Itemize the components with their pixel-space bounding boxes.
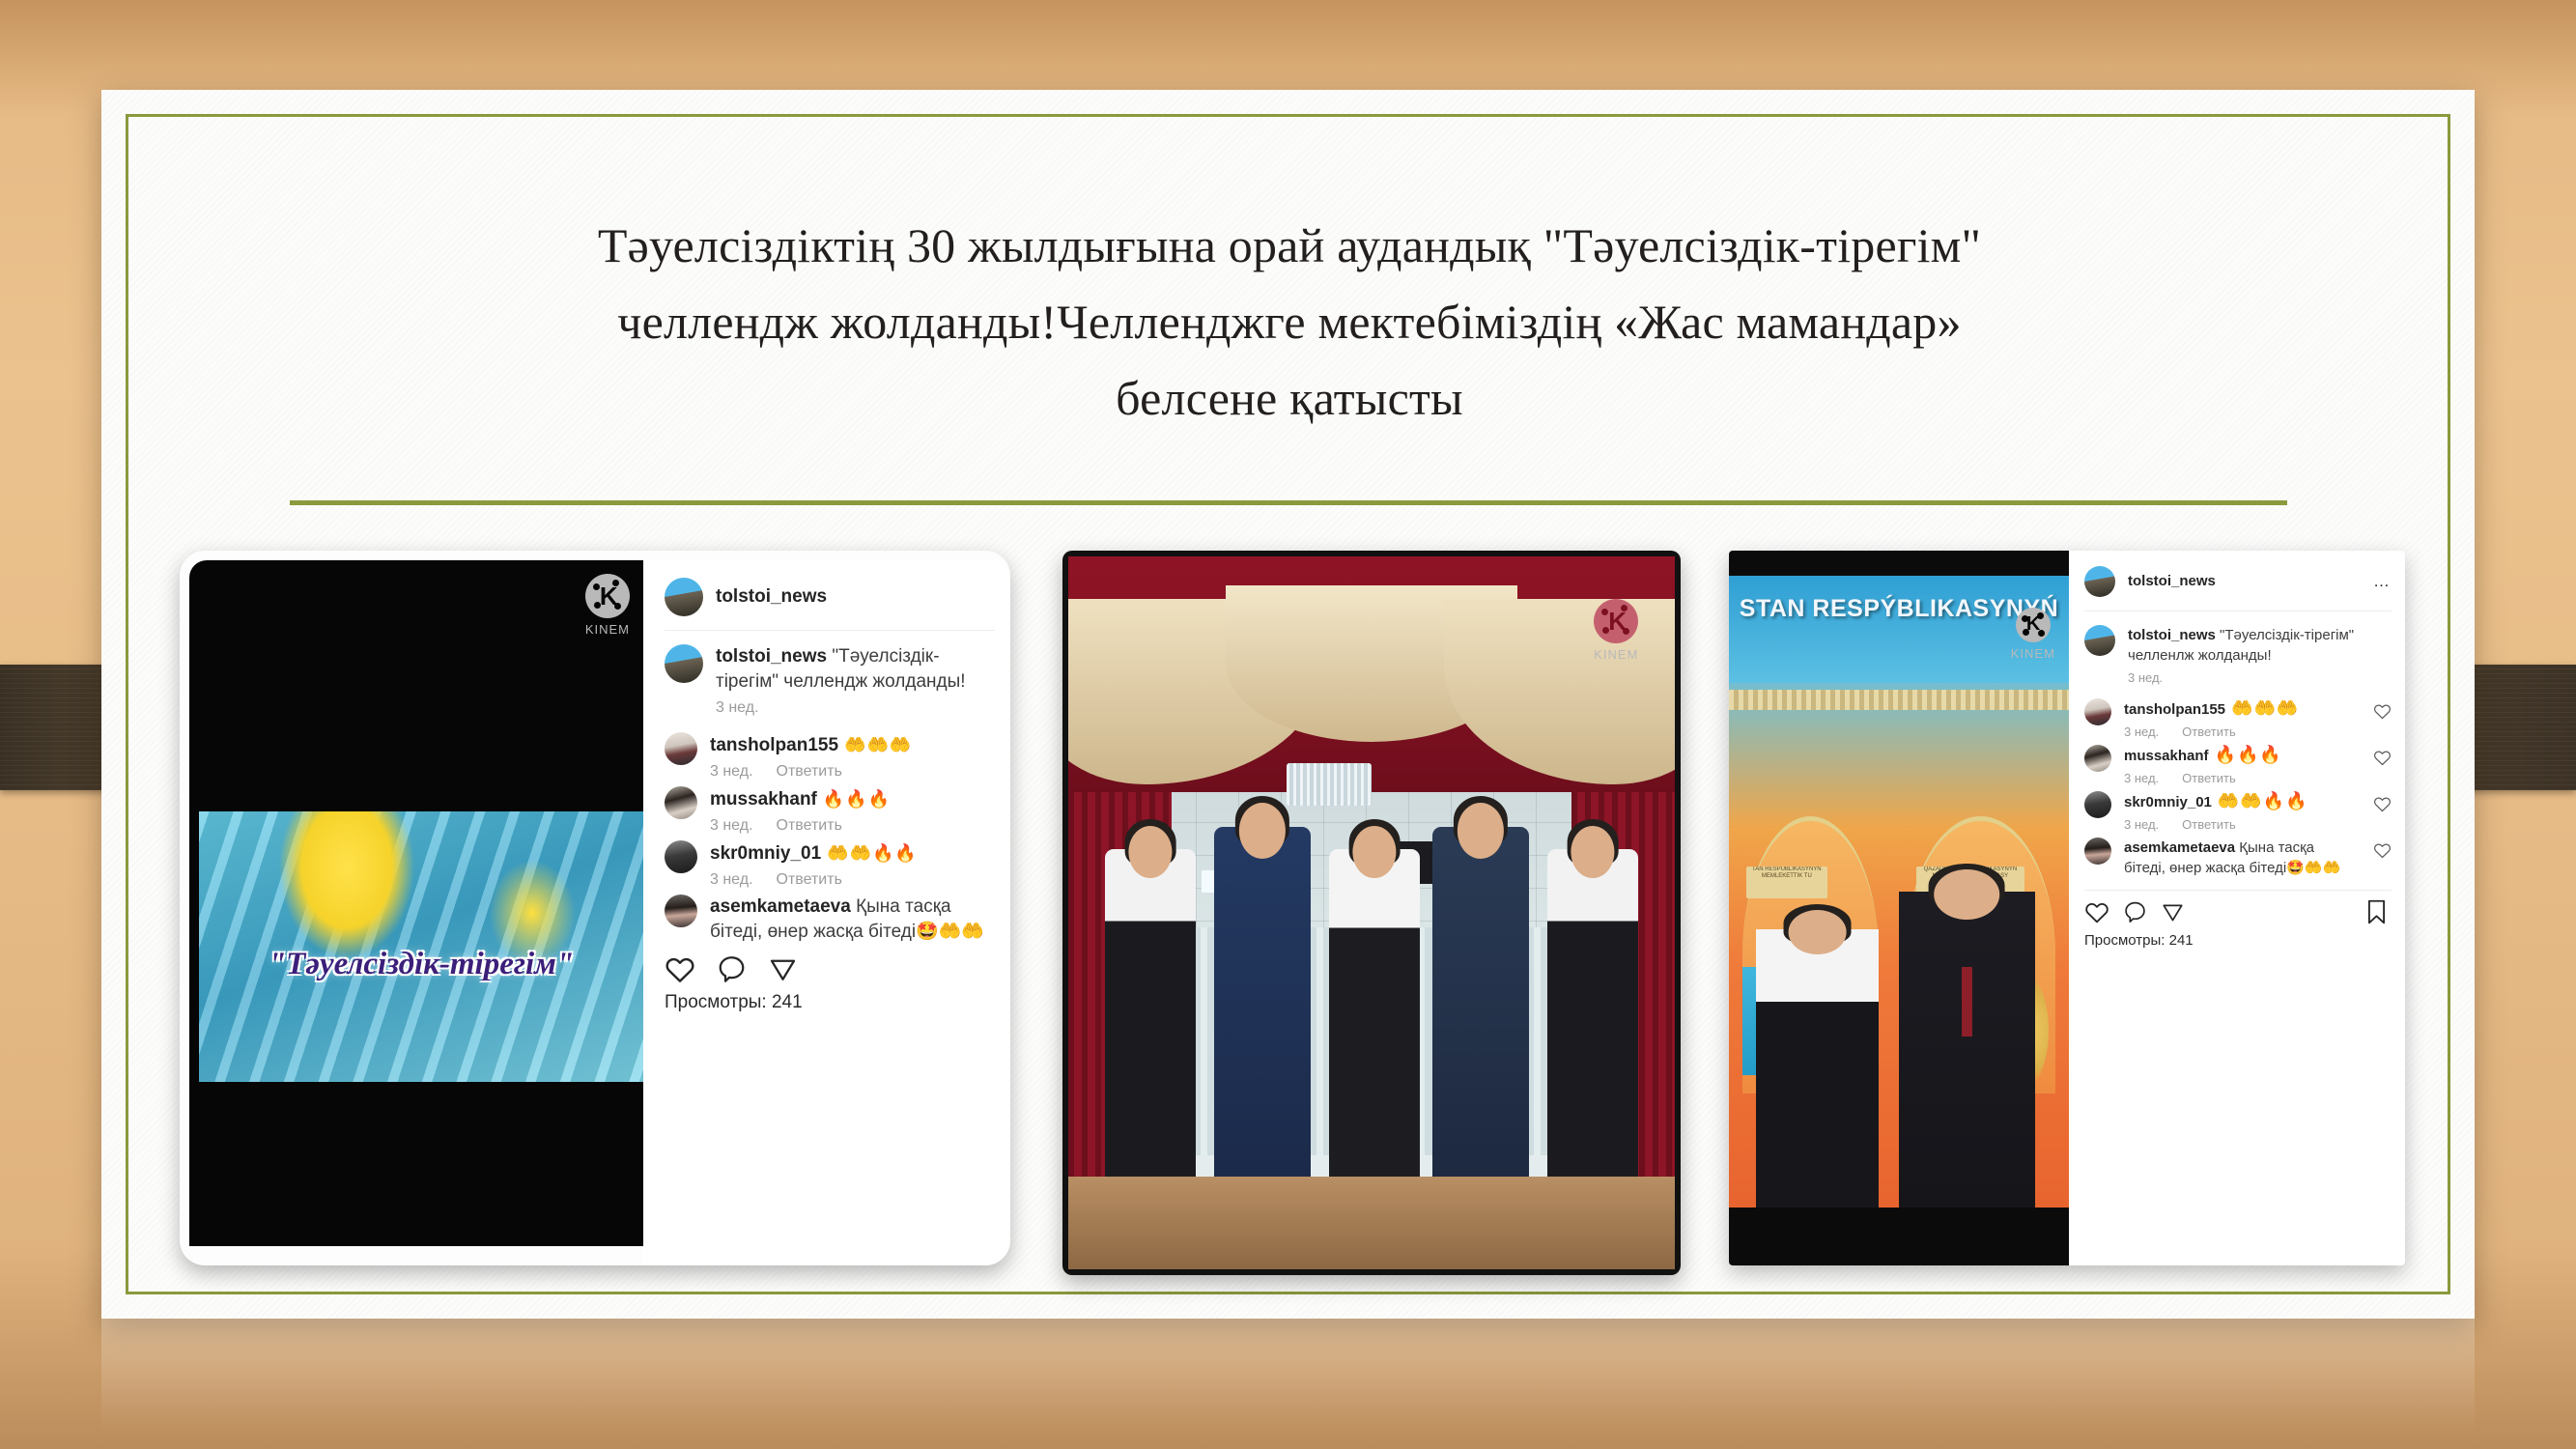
kinemaster-disc-icon: K — [585, 574, 630, 618]
poster-photo: STAN RESPÝBLIKASYNYŃ TAN RESPUBLIKASYNYŃ… — [1729, 551, 2069, 1265]
share-icon[interactable] — [768, 954, 798, 983]
comment-username[interactable]: mussakhanf — [2124, 748, 2209, 764]
like-comment-icon[interactable] — [2373, 841, 2392, 859]
comment-icon[interactable] — [717, 954, 747, 983]
heart-icon[interactable] — [665, 954, 695, 983]
avatar[interactable] — [665, 644, 703, 683]
divider — [2084, 611, 2392, 611]
person — [1432, 827, 1529, 1177]
comment-username[interactable]: mussakhanf — [710, 789, 817, 810]
kazakh-flag-frame: "Тәуелсіздік-тірегім" — [199, 811, 643, 1082]
instagram-card-right[interactable]: STAN RESPÝBLIKASYNYŃ TAN RESPUBLIKASYNYŃ… — [1729, 551, 2405, 1265]
more-options-icon[interactable]: … — [2373, 572, 2392, 591]
avatar[interactable] — [2084, 566, 2115, 597]
post-caption: tolstoi_news "Тәуелсіздік-тірегім" челле… — [665, 644, 995, 717]
comment-time: 3 нед. — [710, 763, 753, 780]
poster-ornament — [1729, 690, 2069, 710]
comment-text: 🤲🤲🤲 — [838, 735, 912, 754]
views-count: Просмотры: 241 — [665, 992, 995, 1013]
comment-username[interactable]: skr0mniy_01 — [2124, 794, 2212, 810]
avatar[interactable] — [2084, 745, 2111, 772]
list-item: mussakhanf 🔥🔥🔥 3 нед.Ответить — [665, 786, 995, 835]
reply-button[interactable]: Ответить — [2182, 817, 2236, 832]
comment-time: 3 нед. — [710, 817, 753, 834]
caption-username[interactable]: tolstoi_news — [2128, 627, 2216, 643]
instagram-comments-pane: tolstoi_news tolstoi_news "Тәуелсіздік-т… — [643, 560, 1010, 1265]
like-comment-icon[interactable] — [2373, 795, 2392, 812]
chandelier — [1287, 763, 1372, 806]
flag-sun-emblem — [274, 811, 419, 965]
like-comment-icon[interactable] — [2373, 749, 2392, 766]
person — [1899, 892, 2035, 1207]
comment-text: 🔥🔥🔥 — [817, 789, 891, 809]
person — [1547, 849, 1638, 1177]
comment-text: 🔥🔥🔥 — [2209, 745, 2282, 764]
comment-time: 3 нед. — [2124, 817, 2159, 832]
divider — [665, 630, 995, 631]
avatar[interactable] — [2084, 625, 2115, 656]
list-item: asemkametaeva Қына тасқа бітеді, өнер жа… — [665, 895, 995, 945]
instagram-comments-pane: tolstoi_news … tolstoi_news "Тәуелсіздік… — [2069, 551, 2405, 1265]
avatar[interactable] — [2084, 791, 2111, 818]
reply-button[interactable]: Ответить — [777, 871, 842, 888]
reply-button[interactable]: Ответить — [777, 763, 842, 780]
heart-icon[interactable] — [2084, 900, 2109, 923]
avatar[interactable] — [665, 732, 697, 765]
like-comment-icon[interactable] — [2373, 702, 2392, 720]
comment-username[interactable]: asemkametaeva — [2124, 839, 2235, 856]
reply-button[interactable]: Ответить — [2182, 771, 2236, 785]
poster-backdrop: STAN RESPÝBLIKASYNYŃ TAN RESPUBLIKASYNYŃ… — [1729, 576, 2069, 1207]
comment-text: 🤲🤲🔥🔥 — [2212, 791, 2308, 810]
caption-time: 3 нед. — [2128, 670, 2163, 685]
post-actions — [2084, 900, 2392, 923]
list-item: mussakhanf 🔥🔥🔥 3 нед.Ответить — [2084, 745, 2359, 785]
comment-username[interactable]: tansholpan155 — [710, 735, 838, 755]
comment-username[interactable]: tansholpan155 — [2124, 701, 2225, 718]
avatar[interactable] — [2084, 698, 2111, 725]
kinemaster-watermark: K KINEM — [1594, 599, 1638, 662]
person — [1105, 849, 1196, 1177]
avatar[interactable] — [665, 895, 697, 927]
list-item: asemkametaeva Қына тасқа бітеді, өнер жа… — [2084, 838, 2359, 878]
comment-text: 🤲🤲🤲 — [2225, 698, 2299, 718]
share-icon[interactable] — [2161, 900, 2185, 923]
comment-username[interactable]: skr0mniy_01 — [710, 843, 821, 864]
person — [1214, 827, 1311, 1177]
list-item: tansholpan155 🤲🤲🤲 3 нед.Ответить — [2084, 698, 2359, 739]
video-thumbnail[interactable]: K KINEM "Тәуелсіздік-тірегім" — [189, 560, 643, 1246]
kinemaster-disc-icon: K — [1594, 599, 1638, 643]
reply-button[interactable]: Ответить — [777, 817, 842, 834]
comment-time: 3 нед. — [2124, 771, 2159, 785]
kinemaster-watermark: K KINEM — [2011, 608, 2055, 661]
post-actions — [665, 954, 995, 983]
caption-username[interactable]: tolstoi_news — [716, 646, 827, 667]
list-item: skr0mniy_01 🤲🤲🔥🔥 3 нед.Ответить — [665, 840, 995, 889]
video-caption-text: "Тәуелсіздік-тірегім" — [199, 947, 643, 982]
stage-floor — [1068, 1177, 1675, 1269]
photo-card-middle[interactable]: K KINEM — [1062, 551, 1681, 1275]
avatar[interactable] — [665, 578, 703, 616]
comment-time: 3 нед. — [710, 871, 753, 888]
views-count: Просмотры: 241 — [2084, 932, 2392, 949]
person — [1329, 849, 1420, 1177]
comment-text: 🤲🤲🔥🔥 — [821, 843, 918, 863]
reply-button[interactable]: Ответить — [2182, 724, 2236, 739]
post-header[interactable]: tolstoi_news — [665, 578, 995, 616]
page-title: Тәуелсіздіктің 30 жылдығына орай ауданды… — [164, 208, 2415, 437]
kinemaster-brand: KINEM — [2011, 646, 2055, 661]
bookmark-icon[interactable] — [2365, 899, 2388, 924]
poster-plaque-left: TAN RESPUBLIKASYNYŃ MEMLEKETTIK TU — [1746, 867, 1827, 898]
avatar[interactable] — [665, 786, 697, 819]
stage-group-photo: K KINEM — [1068, 556, 1675, 1269]
kinemaster-watermark: K KINEM — [585, 574, 630, 637]
person — [1756, 929, 1879, 1207]
post-caption: tolstoi_news "Тәуелсіздік-тірегім" челле… — [2084, 625, 2392, 685]
slide-stage: Тәуелсіздіктің 30 жылдығына орай ауданды… — [0, 0, 2576, 1449]
divider — [2084, 890, 2392, 891]
post-header[interactable]: tolstoi_news — [2084, 566, 2359, 597]
comment-username[interactable]: asemkametaeva — [710, 896, 851, 917]
title-divider — [290, 500, 2287, 505]
post-author-username[interactable]: tolstoi_news — [716, 586, 827, 607]
avatar[interactable] — [665, 840, 697, 873]
list-item: tansholpan155 🤲🤲🤲 3 нед.Ответить — [665, 732, 995, 781]
kinemaster-brand: KINEM — [585, 622, 630, 637]
kinemaster-disc-icon: K — [2016, 608, 2051, 642]
caption-time: 3 нед. — [716, 699, 759, 716]
comment-icon[interactable] — [2123, 900, 2147, 923]
avatar[interactable] — [2084, 838, 2111, 865]
comment-time: 3 нед. — [2124, 724, 2159, 739]
post-author-username[interactable]: tolstoi_news — [2128, 573, 2216, 589]
list-item: skr0mniy_01 🤲🤲🔥🔥 3 нед.Ответить — [2084, 791, 2359, 832]
instagram-card-left[interactable]: K KINEM "Тәуелсіздік-тірегім" tolstoi_ne… — [180, 551, 1010, 1265]
kinemaster-brand: KINEM — [1594, 647, 1638, 662]
